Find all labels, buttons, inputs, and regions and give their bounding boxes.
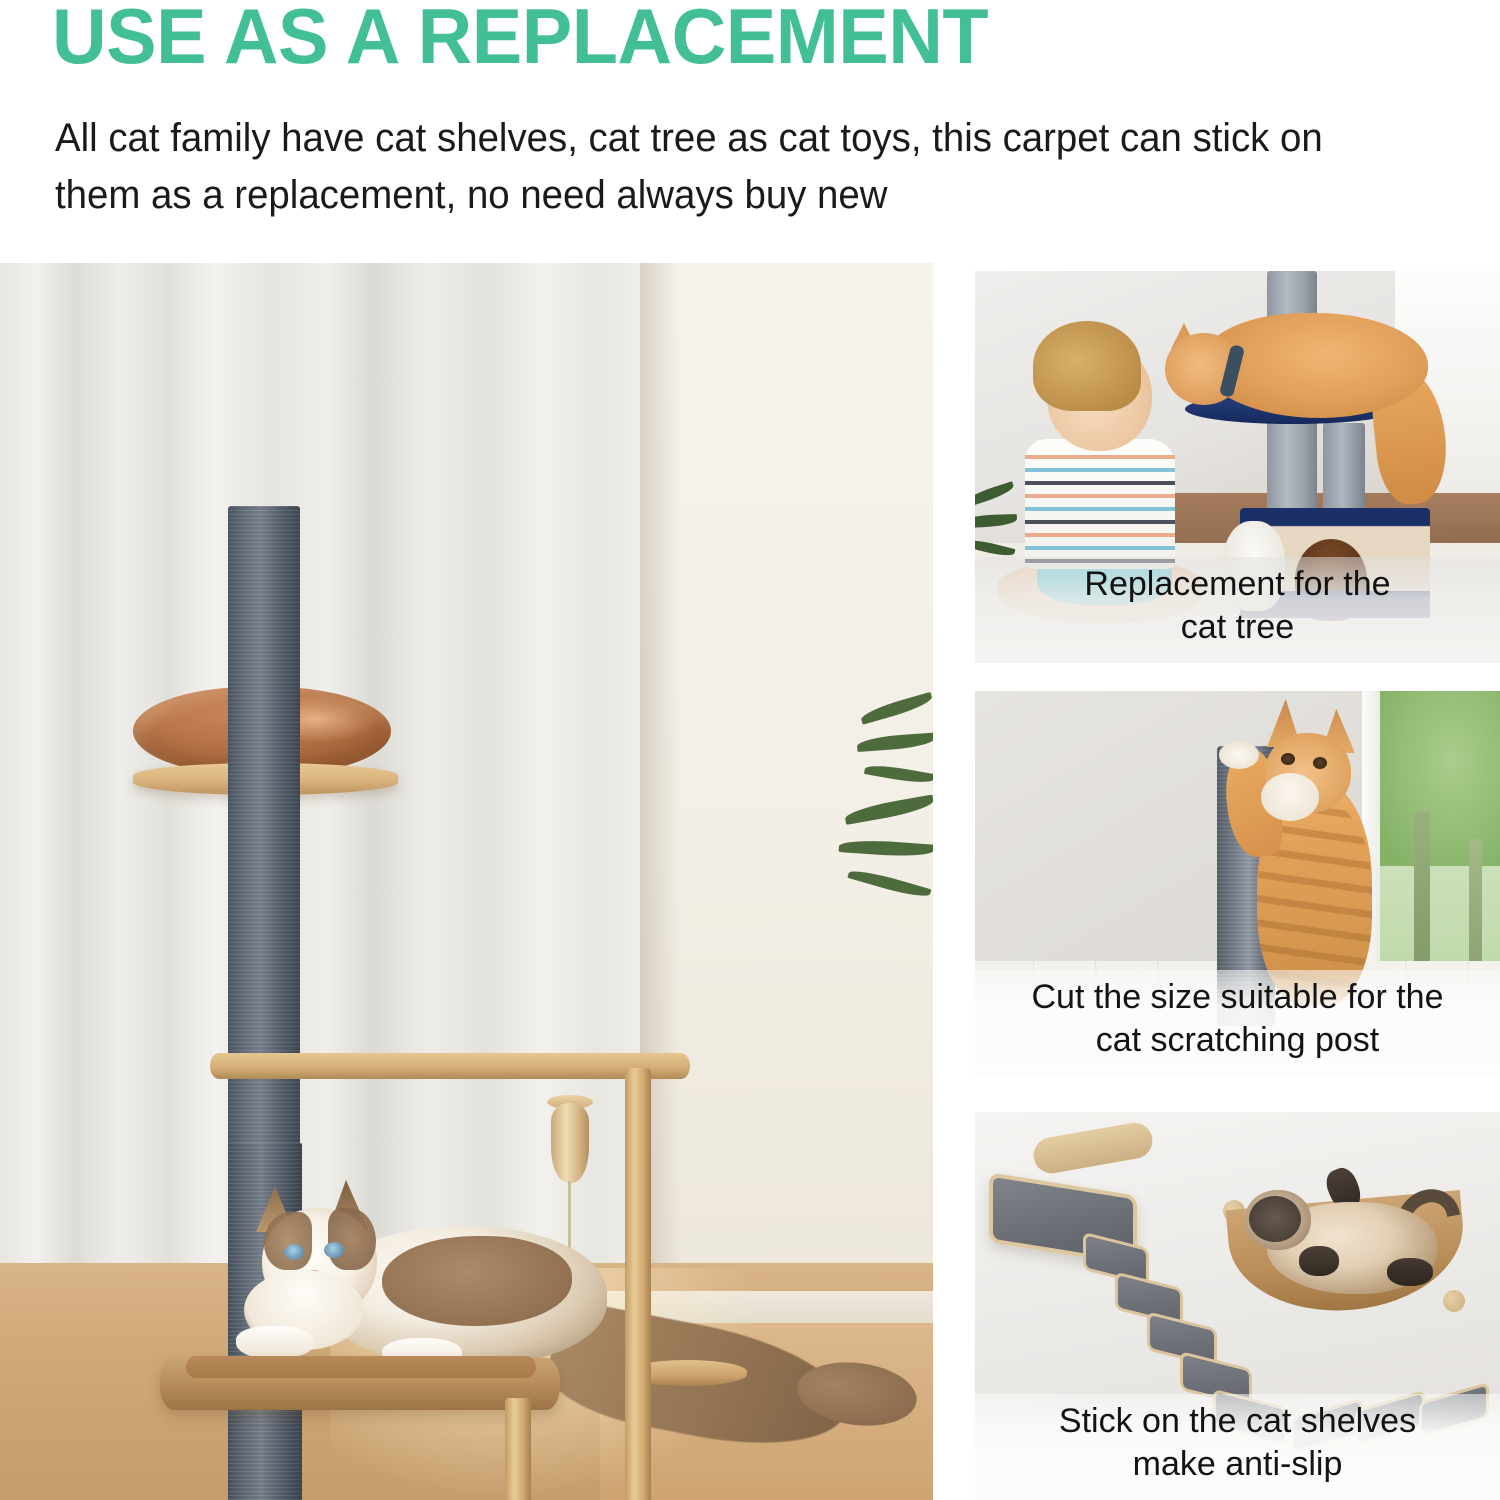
- panel1-caption: Replacement for the cat tree: [975, 557, 1500, 663]
- cat-front-paw: [236, 1326, 314, 1360]
- panel3-caption: Stick on the cat shelves make anti-slip: [975, 1394, 1500, 1500]
- palm-plant: [855, 698, 933, 948]
- hero-product-photo: [0, 263, 933, 1500]
- panel2-caption-line2: cat scratching post: [991, 1019, 1484, 1062]
- panel3-cat-face-mask: [1249, 1196, 1301, 1242]
- panel-cut-to-size: Cut the size suitable for the cat scratc…: [975, 691, 1500, 1076]
- panel-anti-slip-shelves: Stick on the cat shelves make anti-slip: [975, 1112, 1500, 1500]
- panel2-caption: Cut the size suitable for the cat scratc…: [975, 970, 1500, 1076]
- panel3-cat-paw-rear: [1387, 1258, 1433, 1286]
- cat-mask-right: [328, 1208, 376, 1270]
- panel3-cat-paw-mid: [1299, 1246, 1339, 1276]
- panel3-siamese-cat: [1237, 1174, 1452, 1299]
- page-subtitle: All cat family have cat shelves, cat tre…: [55, 110, 1399, 224]
- scratching-post-upper: [228, 506, 300, 1146]
- cat-eye-right: [324, 1242, 344, 1258]
- panel2-caption-line1: Cut the size suitable for the: [991, 976, 1484, 1019]
- panel3-caption-line1: Stick on the cat shelves: [991, 1400, 1484, 1443]
- panel1-caption-line2: cat tree: [991, 606, 1484, 649]
- hanging-wooden-toy: [551, 1103, 589, 1183]
- image-gallery: Replacement for the cat tree Cut the siz…: [0, 263, 1500, 1500]
- mid-shelf: [210, 1053, 690, 1079]
- panel3-caption-line2: make anti-slip: [991, 1443, 1484, 1486]
- lower-platform-mat: [186, 1356, 536, 1378]
- support-leg-right: [625, 1068, 651, 1500]
- cat-mask-left: [264, 1212, 312, 1270]
- panel2-cat-eye-right: [1313, 757, 1327, 769]
- cat-saddle-marking: [382, 1236, 572, 1326]
- panel1-child-hair: [1033, 321, 1141, 411]
- panel2-cat-eye-left: [1281, 753, 1295, 765]
- cat-eye-left: [284, 1244, 304, 1260]
- header-banner: USE AS A REPLACEMENT All cat family have…: [0, 0, 1500, 263]
- panel1-shirt-stripes: [1025, 446, 1175, 564]
- panel2-cat-paw: [1219, 741, 1259, 769]
- panel-replacement-cat-tree: Replacement for the cat tree: [975, 271, 1500, 663]
- panel1-caption-line1: Replacement for the: [991, 563, 1484, 606]
- panel2-cat-chest: [1261, 773, 1319, 821]
- support-leg-left: [505, 1398, 531, 1500]
- page-title: USE AS A REPLACEMENT: [52, 0, 988, 78]
- panel2-tree-canopy: [1380, 691, 1500, 866]
